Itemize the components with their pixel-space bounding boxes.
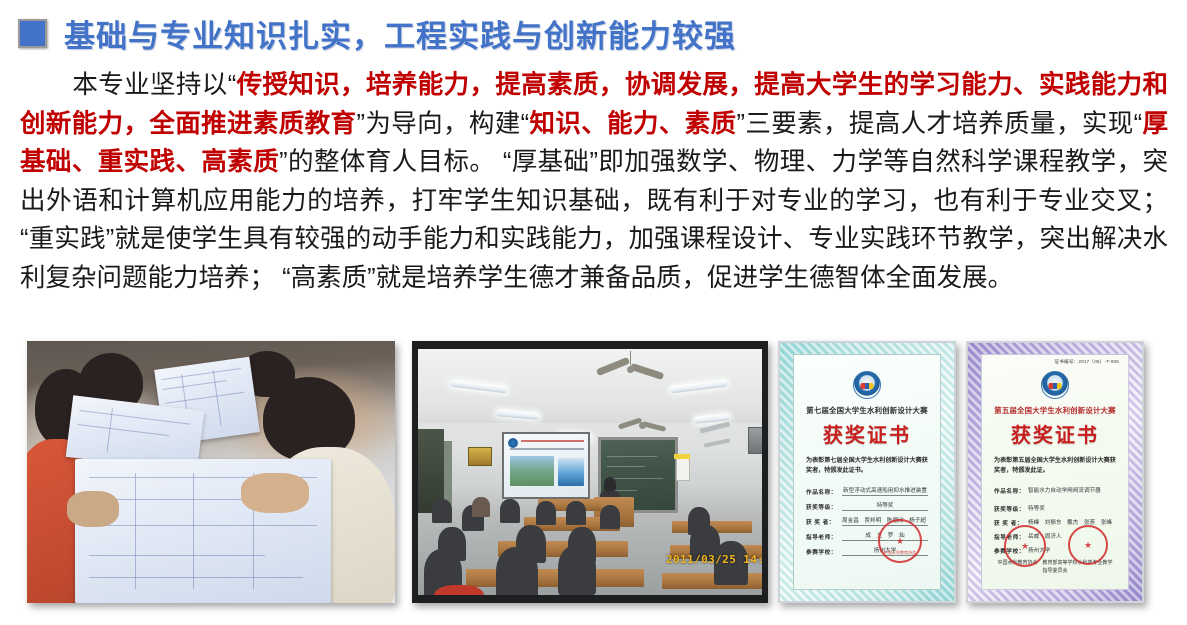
- wall-notice-tag: [674, 454, 690, 459]
- certificate-title: 获奖证书: [794, 419, 940, 448]
- field-label: 作品名称：: [994, 487, 1028, 495]
- quote-open-1: “: [228, 71, 237, 99]
- student: [600, 505, 620, 529]
- field-value: 杨峰 刘振东 戴杰 张荟 张峰: [1028, 518, 1116, 527]
- student: [432, 499, 452, 523]
- student: [496, 547, 538, 595]
- quote-close-2: ”: [737, 110, 746, 138]
- body-segment-1: 本专业坚持以: [72, 71, 228, 99]
- certificate-field-row: 获奖等级： 特等奖: [994, 504, 1116, 513]
- square-bullet-icon: [18, 19, 47, 48]
- quote-close-1: ”: [356, 110, 365, 138]
- certificate-field-row: 作品名称： 新型浮动式高速船用抑水推进装置: [806, 486, 928, 496]
- field-label: 获奖等级：: [806, 503, 842, 511]
- student: [500, 499, 520, 523]
- field-value: 特等奖: [842, 501, 928, 511]
- certificate-contest-name: 第五届全国大学生水利创新设计大赛: [982, 405, 1128, 416]
- projector-screen: [502, 432, 590, 499]
- page-title: 基础与专业知识扎实，工程实践与创新能力较强: [64, 11, 736, 56]
- student: [536, 501, 556, 525]
- photo-students-blueprints: [27, 341, 395, 603]
- field-label: 作品名称：: [806, 488, 842, 496]
- desk-row: [466, 569, 644, 587]
- photo-certificate-5th: 证书编号：2017（05）-T-006 第五届全国大学生水利创新设计大赛 获奖证…: [966, 341, 1144, 603]
- field-label: 指导老师：: [806, 533, 842, 541]
- wall-light-bar: [700, 421, 730, 433]
- certificate-contest-name: 第七届全国大学生水利创新设计大赛: [794, 405, 940, 416]
- body-paragraph: 本专业坚持以“传授知识，培养能力，提高素质，协调发展，提高大学生的学习能力、实践…: [20, 66, 1168, 297]
- field-label: 参赛学校：: [806, 548, 842, 556]
- contest-emblem-icon: [1041, 371, 1069, 399]
- wall-speaker: [748, 427, 762, 454]
- certificate-field-row: 获 奖 者： 杨峰 刘振东 戴杰 张荟 张峰: [994, 518, 1116, 527]
- seal-text: 中国水利教育协会: [884, 550, 916, 556]
- certificate-field-row: 作品名称： 智能水力自动学闸阀流调节器: [994, 486, 1116, 495]
- certificate-body-text: 为表彰第五届全国大学生水利创新设计大赛获奖者，特颁发此证。: [994, 456, 1116, 476]
- certificate-body-text: 为表彰第七届全国大学生水利创新设计大赛获奖者，特颁发此证书。: [806, 456, 928, 476]
- body-segment-3: 三要素，提高人才培养质量，实现: [745, 110, 1134, 138]
- student: [566, 501, 586, 525]
- body-highlight-2: 知识、能力、素质: [529, 110, 736, 138]
- quote-close-3: ”: [279, 148, 288, 176]
- field-value: 新型浮动式高速船用抑水推进装置: [842, 486, 928, 496]
- field-value: 智能水力自动学闸阀流调节器: [1028, 486, 1116, 495]
- lecturer: [604, 477, 616, 491]
- body-segment-2: 为导向，构建: [365, 110, 521, 138]
- official-seal-stamp: [1004, 525, 1046, 567]
- window-frame: [444, 441, 452, 505]
- slide-title-row: 基础与专业知识扎实，工程实践与创新能力较强: [18, 10, 736, 56]
- certificate-title: 获奖证书: [982, 419, 1128, 448]
- certificate-serial-number: 证书编号：2017（05）-T-006: [1054, 359, 1119, 365]
- contest-emblem-icon: [853, 371, 881, 399]
- quote-open-2: “: [521, 110, 530, 138]
- field-value: 特等奖: [1028, 504, 1116, 513]
- photo-classroom-lecture: 2011/03/25 14:38: [412, 341, 768, 603]
- wall-notice: [676, 457, 690, 481]
- official-seal-stamp-secondary: [1068, 525, 1108, 565]
- body-paragraph-container: 本专业坚持以“传授知识，培养能力，提高素质，协调发展，提高大学生的学习能力、实践…: [20, 66, 1168, 297]
- photo-timestamp: 2011/03/25 14:38: [666, 553, 762, 566]
- student: [472, 497, 490, 517]
- field-label: 获 奖 者：: [806, 518, 842, 526]
- wall-poster: [468, 447, 492, 466]
- field-label: 获奖等级：: [994, 505, 1028, 513]
- student-red-jacket: [434, 585, 484, 595]
- official-seal-stamp: 中国水利教育协会: [878, 519, 922, 563]
- photo-strip: 2011/03/25 14:38 第七届全国大学生水利创新设计大赛 获奖证书 为…: [0, 338, 1187, 625]
- student: [558, 545, 596, 595]
- photo-certificate-7th: 第七届全国大学生水利创新设计大赛 获奖证书 为表彰第七届全国大学生水利创新设计大…: [778, 341, 956, 603]
- quote-open-3: “: [1134, 110, 1143, 138]
- wall-light-bar: [704, 438, 730, 447]
- certificate-field-row: 获奖等级： 特等奖: [806, 501, 928, 511]
